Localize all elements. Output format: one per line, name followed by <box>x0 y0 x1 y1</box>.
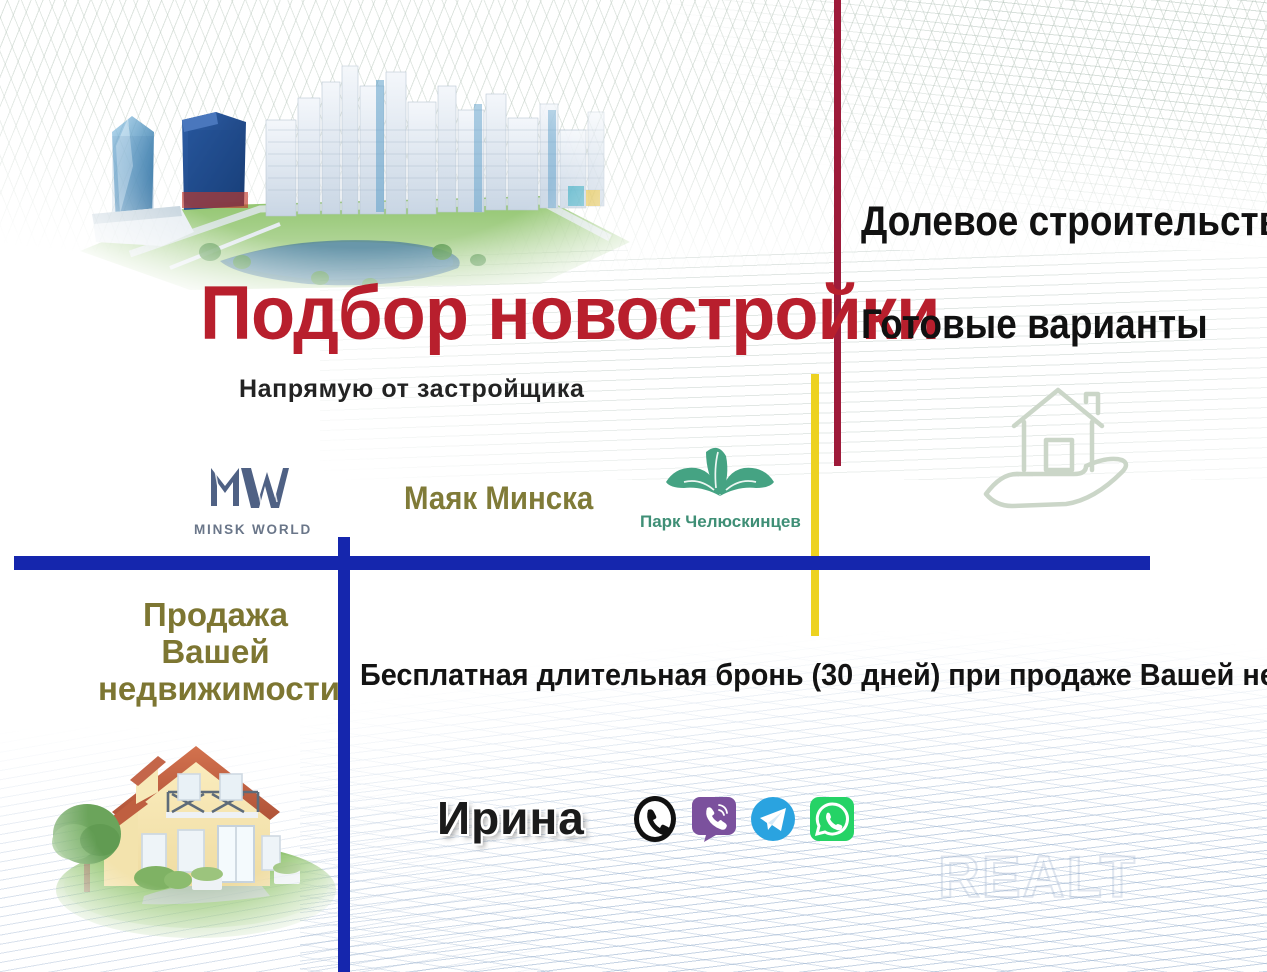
brand-park-chelyuskintsev: Парк Челюскинцев <box>640 438 800 532</box>
cottage-house-image <box>26 700 356 950</box>
sell-property-heading: Продажа Вашей недвижимости <box>98 597 333 708</box>
agent-name: Ирина <box>437 791 585 845</box>
viber-icon[interactable] <box>690 795 738 843</box>
divider-blue-horizontal <box>14 556 1150 570</box>
city-skyline-image <box>70 46 650 301</box>
page-subtitle: Напрямую от застройщика <box>239 375 585 404</box>
telegram-icon[interactable] <box>749 795 797 843</box>
booking-offer-text: Бесплатная длительная бронь (30 дней) пр… <box>360 657 1267 693</box>
mw-monogram-icon <box>186 458 320 512</box>
leaf-book-icon <box>640 438 800 506</box>
divider-yellow-vertical <box>811 374 819 636</box>
brand-park-label: Парк Челюскинцев <box>640 512 800 532</box>
realty-advertisement-poster: Подбор новостройки Напрямую от застройщи… <box>0 0 1267 972</box>
brand-mayak-minska: Маяк Минска <box>404 480 593 517</box>
realt-watermark: REALT <box>938 844 1137 911</box>
claim-shared-construction: Долевое строительство <box>861 197 1267 245</box>
brand-minsk-world-label: MINSK WORLD <box>186 522 320 537</box>
divider-red-vertical <box>834 0 841 466</box>
phone-icon[interactable] <box>631 795 679 843</box>
whatsapp-icon[interactable] <box>808 795 856 843</box>
page-title: Подбор новостройки <box>200 276 940 352</box>
contact-channels <box>631 795 856 843</box>
sell-property-line-1: Продажа Вашей <box>143 596 288 670</box>
house-in-hand-icon <box>962 378 1152 510</box>
brand-minsk-world: MINSK WORLD <box>186 458 320 537</box>
claim-ready-options: Готовые варианты <box>861 300 1208 348</box>
